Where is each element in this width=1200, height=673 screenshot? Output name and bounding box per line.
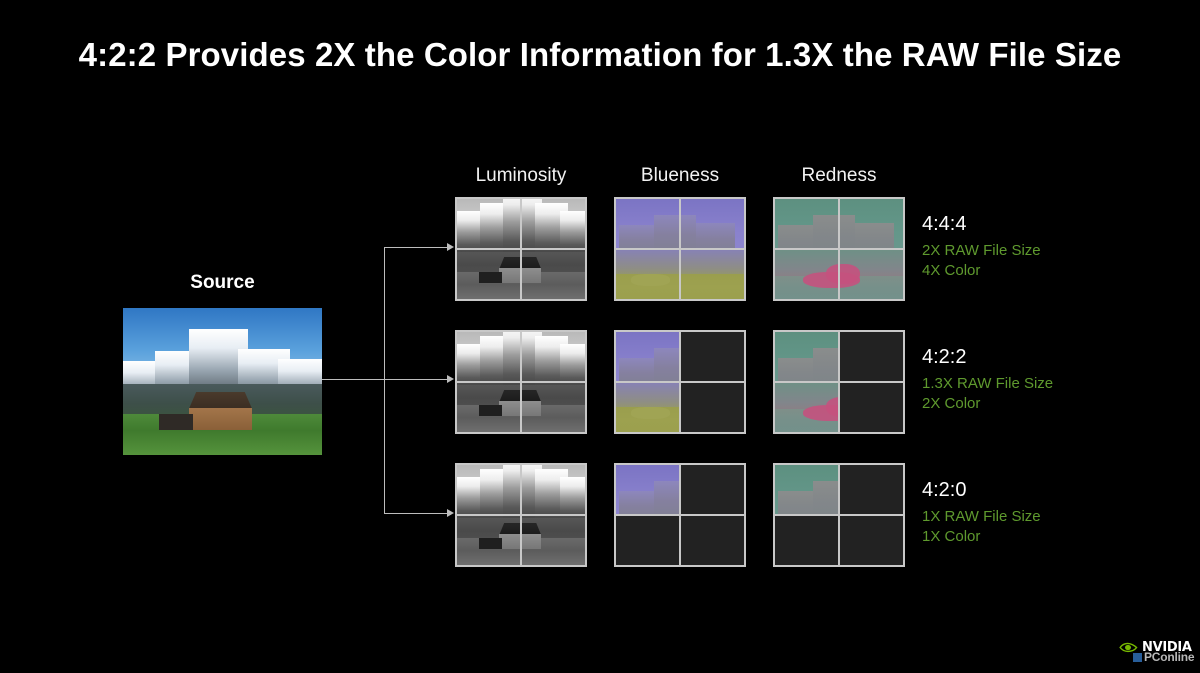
panel-444-redness: [773, 197, 905, 301]
row-name-420: 4:2:0: [922, 478, 1041, 503]
quadrant-bottom-right: [681, 250, 744, 299]
slide-canvas: 4:2:2 Provides 2X the Color Information …: [0, 0, 1200, 673]
quadrant-bottom-left: [457, 516, 520, 565]
source-barn-side: [159, 414, 193, 430]
quadrant-top-right: [681, 199, 744, 248]
panel-420-redness: [773, 463, 905, 567]
quadrant-top-left: [616, 332, 679, 381]
row-caption-422: 4:2:2 1.3X RAW File Size 2X Color: [922, 345, 1053, 415]
connector-trunk-vertical: [384, 247, 385, 514]
row-sub-444-color: 4X Color: [922, 261, 1041, 281]
quadrant-top-left: [775, 332, 838, 381]
source-image: [123, 308, 322, 455]
quadrant-bottom-right: [522, 250, 585, 299]
quadrant-bottom-left-empty: [775, 516, 838, 565]
nvidia-logo: NVIDIA: [1118, 640, 1192, 655]
page-title: 4:2:2 Provides 2X the Color Information …: [0, 36, 1200, 74]
arrow-head-420: [447, 509, 454, 517]
quadrant-bottom-right-empty: [840, 383, 903, 432]
source-label: Source: [123, 272, 322, 294]
quadrant-bottom-left: [616, 250, 679, 299]
nvidia-wordmark: NVIDIA: [1142, 640, 1192, 655]
arrow-head-422: [447, 375, 454, 383]
quadrant-top-right: [840, 199, 903, 248]
quadrant-top-right: [522, 332, 585, 381]
quadrant-top-left: [457, 465, 520, 514]
row-sub-444-size: 2X RAW File Size: [922, 241, 1041, 261]
quadrant-top-left: [775, 465, 838, 514]
row-caption-420: 4:2:0 1X RAW File Size 1X Color: [922, 478, 1041, 548]
panel-444-luminosity: [455, 197, 587, 301]
connector-branch-444: [384, 247, 449, 248]
quadrant-top-left: [457, 332, 520, 381]
quadrant-bottom-right-empty: [681, 383, 744, 432]
quadrant-top-left: [616, 465, 679, 514]
quadrant-bottom-left: [775, 383, 838, 432]
row-name-444: 4:4:4: [922, 212, 1041, 237]
quadrant-top-left: [616, 199, 679, 248]
column-header-blueness: Blueness: [614, 165, 746, 187]
panel-420-blueness: [614, 463, 746, 567]
column-header-redness: Redness: [773, 165, 905, 187]
quadrant-bottom-left: [616, 383, 679, 432]
arrow-head-444: [447, 243, 454, 251]
quadrant-top-right-empty: [840, 465, 903, 514]
panel-420-luminosity: [455, 463, 587, 567]
row-name-422: 4:2:2: [922, 345, 1053, 370]
quadrant-bottom-left: [457, 383, 520, 432]
connector-branch-422: [384, 379, 449, 380]
panel-422-luminosity: [455, 330, 587, 434]
quadrant-top-left: [775, 199, 838, 248]
row-sub-420-color: 1X Color: [922, 527, 1041, 547]
panel-444-blueness: [614, 197, 746, 301]
quadrant-bottom-right: [522, 516, 585, 565]
panel-422-redness: [773, 330, 905, 434]
panel-422-blueness: [614, 330, 746, 434]
quadrant-bottom-right: [522, 383, 585, 432]
nvidia-eye-icon: [1118, 641, 1138, 654]
quadrant-bottom-right: [840, 250, 903, 299]
quadrant-bottom-left: [775, 250, 838, 299]
connector-trunk-horizontal: [322, 379, 384, 380]
row-caption-444: 4:4:4 2X RAW File Size 4X Color: [922, 212, 1041, 282]
quadrant-bottom-right-empty: [840, 516, 903, 565]
quadrant-bottom-left: [457, 250, 520, 299]
quadrant-top-right-empty: [840, 332, 903, 381]
row-sub-420-size: 1X RAW File Size: [922, 507, 1041, 527]
quadrant-top-right-empty: [681, 332, 744, 381]
connector-branch-420: [384, 513, 449, 514]
quadrant-top-right: [522, 465, 585, 514]
row-sub-422-size: 1.3X RAW File Size: [922, 374, 1053, 394]
source-barn-roof: [189, 392, 253, 410]
quadrant-bottom-right-empty: [681, 516, 744, 565]
quadrant-top-right: [522, 199, 585, 248]
column-header-luminosity: Luminosity: [455, 165, 587, 187]
quadrant-bottom-left-empty: [616, 516, 679, 565]
source-barn-wall: [189, 408, 253, 430]
quadrant-top-right-empty: [681, 465, 744, 514]
row-sub-422-color: 2X Color: [922, 394, 1053, 414]
quadrant-top-left: [457, 199, 520, 248]
